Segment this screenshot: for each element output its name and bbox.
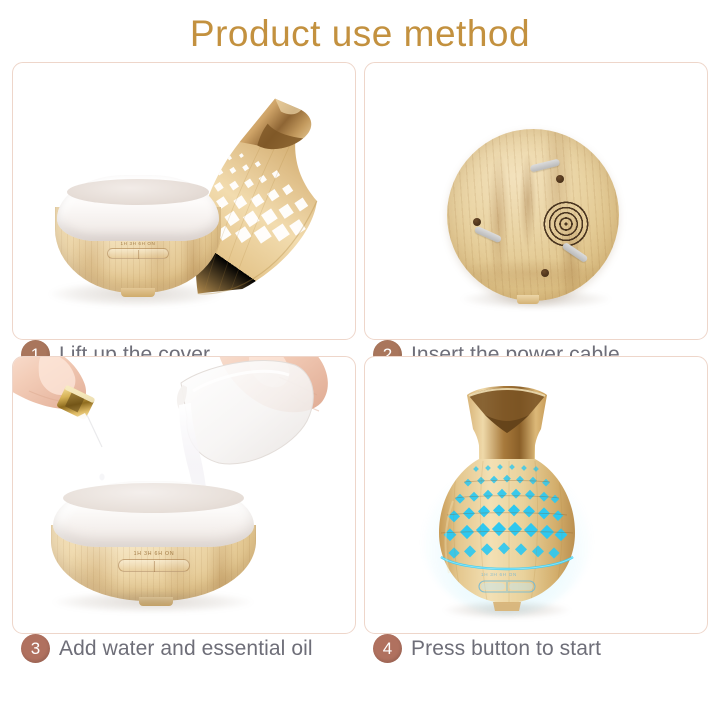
step-card-4: 1H 3H 6H ON 4 Press button to start — [364, 356, 708, 644]
wood-grain-overlay — [447, 129, 619, 301]
step-4-image-panel: 1H 3H 6H ON — [364, 356, 708, 634]
step-4-caption-text: Press button to start — [411, 637, 601, 661]
timer-label: 1H 3H 6H ON — [117, 551, 191, 557]
step-1-image-panel: 1H 3H 6H ON — [12, 62, 356, 340]
adding-water-and-oil-illustration: 1H 3H 6H ON — [13, 357, 355, 633]
step-card-2: 2 Insert the power cable — [364, 62, 708, 350]
base-shadow — [53, 591, 253, 613]
screw-hole — [473, 218, 481, 226]
screw-hole — [556, 175, 564, 183]
assembled-glowing-diffuser-illustration: 1H 3H 6H ON — [365, 357, 707, 633]
vase-diffuser-icon — [417, 381, 597, 617]
power-port-tab — [517, 295, 539, 304]
step-3-caption: 3 Add water and essential oil — [12, 634, 356, 663]
step-4-caption: 4 Press button to start — [364, 634, 708, 663]
step-badge-4: 4 — [373, 634, 402, 663]
base-foot-tab — [121, 288, 155, 297]
diffuser-base-with-cover-illustration: 1H 3H 6H ON — [13, 63, 355, 339]
steps-grid: 1H 3H 6H ON 1 Lift up the cover — [0, 62, 720, 644]
step-3-image-panel: 1H 3H 6H ON — [12, 356, 356, 634]
hand-with-dropper-icon — [12, 356, 159, 491]
fan-vent-icon — [543, 201, 589, 247]
step-2-image-panel — [364, 62, 708, 340]
page-title: Product use method — [0, 0, 720, 62]
step-badge-3: 3 — [21, 634, 50, 663]
step-3-caption-text: Add water and essential oil — [59, 637, 313, 661]
control-buttons — [118, 559, 190, 572]
bottom-wood-disc — [447, 129, 619, 301]
base-water-opening — [63, 483, 244, 513]
base-water-opening — [67, 179, 209, 205]
timer-label: 1H 3H 6H ON — [105, 241, 171, 246]
diffuser-bottom-illustration — [365, 63, 707, 339]
step-card-1: 1H 3H 6H ON 1 Lift up the cover — [12, 62, 356, 350]
screw-hole — [541, 269, 549, 277]
step-card-3: 1H 3H 6H ON 3 Add water and essential oi… — [12, 356, 356, 644]
control-buttons — [107, 248, 169, 259]
timer-label: 1H 3H 6H ON — [470, 572, 528, 577]
